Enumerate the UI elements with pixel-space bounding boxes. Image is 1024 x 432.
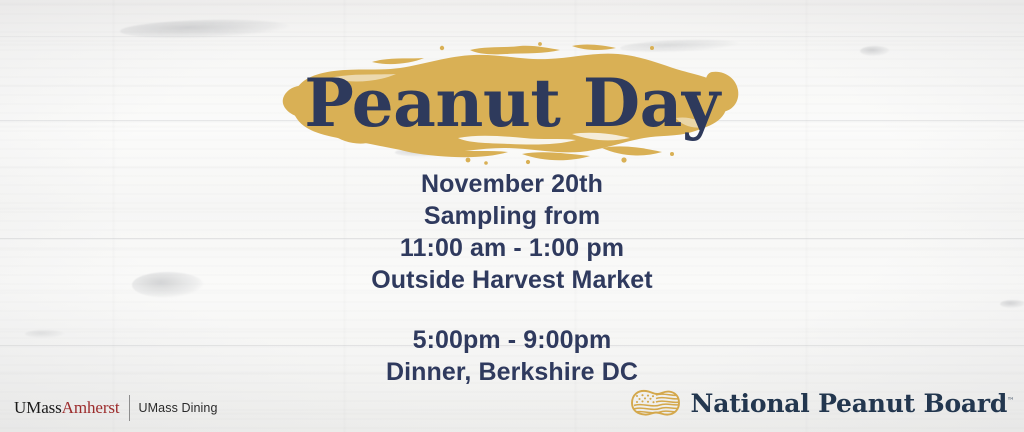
detail-line-date: November 20th <box>0 168 1024 200</box>
detail-line-sampling-location: Outside Harvest Market <box>0 264 1024 296</box>
title-block: Peanut Day <box>0 42 1024 166</box>
detail-line-dinner-time: 5:00pm - 9:00pm <box>0 324 1024 356</box>
logo-divider <box>129 395 130 421</box>
umass-dining-label: UMass Dining <box>139 401 218 415</box>
umass-amherst-wordmark: UMassAmherst <box>14 398 120 418</box>
peanut-flag-icon <box>624 386 682 420</box>
npb-wordmark: National Peanut Board™ <box>691 391 1014 416</box>
page-title: Peanut Day <box>304 70 719 136</box>
amherst-word: Amherst <box>62 398 120 417</box>
npb-wordmark-text: National Peanut Board <box>691 389 1008 418</box>
event-details: November 20th Sampling from 11:00 am - 1… <box>0 168 1024 388</box>
detail-line-dinner-location: Dinner, Berkshire DC <box>0 356 1024 388</box>
trademark-icon: ™ <box>1007 396 1014 404</box>
detail-spacer <box>0 296 1024 324</box>
national-peanut-board-logo: National Peanut Board™ <box>624 386 1014 420</box>
umass-amherst-logo: UMassAmherst UMass Dining <box>14 395 218 421</box>
peanut-day-poster: Peanut Day November 20th Sampling from 1… <box>0 0 1024 432</box>
umass-word: UMass <box>14 398 62 417</box>
detail-line-sampling-time: 11:00 am - 1:00 pm <box>0 232 1024 264</box>
detail-line-sampling: Sampling from <box>0 200 1024 232</box>
